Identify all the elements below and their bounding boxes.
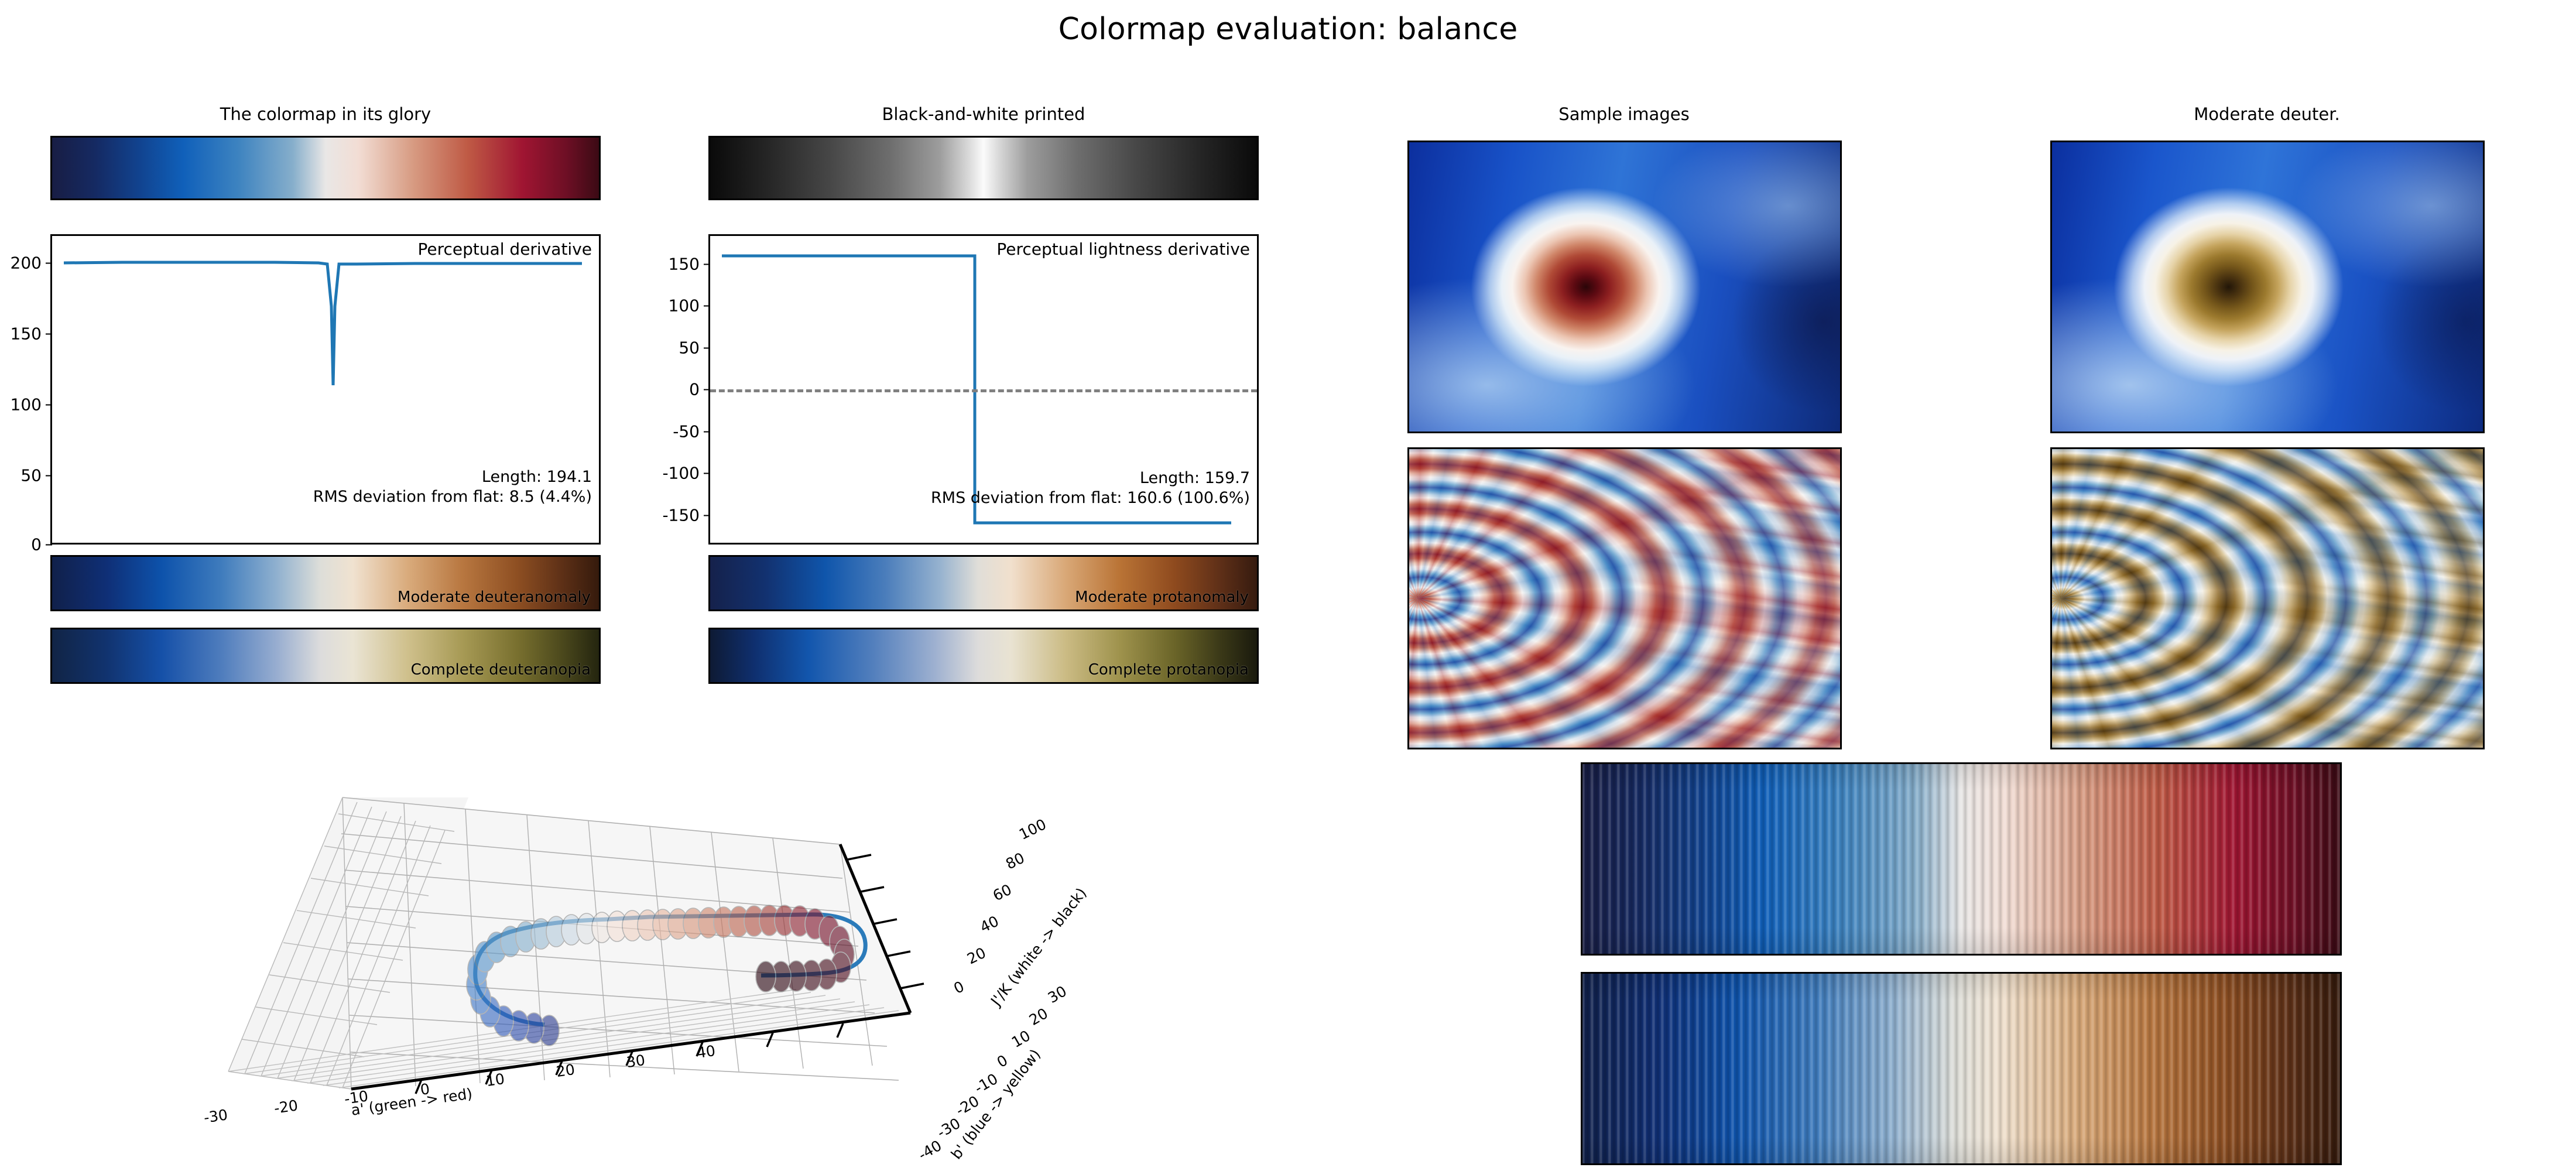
ytick-left-1: 150 bbox=[11, 324, 52, 344]
wave-fan-deuter bbox=[2052, 449, 2483, 748]
page-title: Colormap evaluation: balance bbox=[0, 12, 2576, 47]
axes-label-perceptual-lightness-derivative: Perceptual lightness derivative bbox=[996, 239, 1250, 259]
sample-image-wavepattern-deuter bbox=[2050, 447, 2485, 749]
tick3d-a-1: -20 bbox=[273, 1097, 299, 1117]
strip-label-complete-protanopia: Complete protanopia bbox=[1088, 661, 1249, 679]
tick3d-a-4: 10 bbox=[485, 1070, 506, 1090]
panel-title-samples: Sample images bbox=[1407, 104, 1841, 124]
rms-left: RMS deviation from flat: 8.5 (4.4%) bbox=[313, 487, 592, 508]
sample-image-wavepattern-normal bbox=[1407, 447, 1842, 749]
panel-title-deuter: Moderate deuter. bbox=[2050, 104, 2483, 124]
strip-label-moderate-deuteranomaly: Moderate deuteranomaly bbox=[398, 588, 591, 606]
tick3d-a-5: 20 bbox=[555, 1061, 576, 1080]
ytick-mid-6: -150 bbox=[662, 506, 710, 525]
figure-canvas: Colormap evaluation: balance The colorma… bbox=[0, 0, 2576, 1171]
wave-fan-normal bbox=[1409, 449, 1840, 748]
ripple-panel-deuter bbox=[1581, 972, 2342, 1165]
axes-label-perceptual-derivative: Perceptual derivative bbox=[417, 239, 592, 259]
ytick-mid-4: -50 bbox=[673, 422, 710, 441]
terrain-crater-normal bbox=[1409, 142, 1840, 432]
stats-left: Length: 194.1 RMS deviation from flat: 8… bbox=[313, 467, 592, 508]
gradient-grayscale bbox=[710, 138, 1257, 198]
ripple-vignette-deuter bbox=[1582, 974, 2340, 1163]
jab-3d-plot: -30 -20 -10 0 10 20 30 40 -40 -30 -20 -1… bbox=[176, 761, 1200, 1171]
zero-reference-line bbox=[710, 389, 1257, 392]
length-middle: Length: 159.7 bbox=[931, 468, 1250, 489]
colorbar-glory bbox=[50, 136, 601, 200]
ytick-left-2: 100 bbox=[11, 395, 52, 415]
panel-title-bw: Black-and-white printed bbox=[708, 104, 1259, 124]
ytick-mid-1: 100 bbox=[669, 296, 710, 316]
ripple-vignette-normal bbox=[1582, 764, 2340, 954]
ytick-mid-2: 50 bbox=[679, 338, 710, 358]
ytick-left-4: 0 bbox=[31, 535, 52, 554]
ripple-panel-normal bbox=[1581, 762, 2342, 956]
ytick-mid-0: 150 bbox=[669, 255, 710, 274]
colorbar-moderate-deuteranomaly: Moderate deuteranomaly bbox=[50, 555, 601, 611]
terrain-crater-deuter bbox=[2052, 142, 2483, 432]
ytick-mid-3: 0 bbox=[689, 380, 710, 399]
gradient-balance bbox=[52, 138, 599, 198]
colorbar-moderate-protanomaly: Moderate protanomaly bbox=[708, 555, 1259, 611]
stats-middle: Length: 159.7 RMS deviation from flat: 1… bbox=[931, 468, 1250, 509]
strip-label-moderate-protanomaly: Moderate protanomaly bbox=[1075, 588, 1249, 606]
axes-perceptual-lightness-derivative: Perceptual lightness derivative Length: … bbox=[708, 234, 1259, 545]
colorbar-complete-deuteranopia: Complete deuteranopia bbox=[50, 628, 601, 684]
sample-image-terrain-deuter bbox=[2050, 141, 2485, 433]
axes-perceptual-derivative: Perceptual derivative Length: 194.1 RMS … bbox=[50, 234, 601, 545]
ytick-left-0: 200 bbox=[11, 254, 52, 273]
tick3d-a-0: -30 bbox=[203, 1106, 228, 1126]
rms-middle: RMS deviation from flat: 160.6 (100.6%) bbox=[931, 488, 1250, 509]
ytick-mid-5: -100 bbox=[662, 464, 710, 483]
strip-label-complete-deuteranopia: Complete deuteranopia bbox=[411, 661, 591, 679]
tick3d-a-6: 30 bbox=[625, 1052, 646, 1071]
jab-3d-svg bbox=[176, 761, 1200, 1171]
sample-image-terrain-normal bbox=[1407, 141, 1842, 433]
tick3d-a-7: 40 bbox=[696, 1042, 717, 1062]
colorbar-grayscale bbox=[708, 136, 1259, 200]
ytick-left-3: 50 bbox=[20, 466, 52, 485]
length-left: Length: 194.1 bbox=[313, 467, 592, 488]
panel-title-glory: The colormap in its glory bbox=[50, 104, 601, 124]
colorbar-complete-protanopia: Complete protanopia bbox=[708, 628, 1259, 684]
